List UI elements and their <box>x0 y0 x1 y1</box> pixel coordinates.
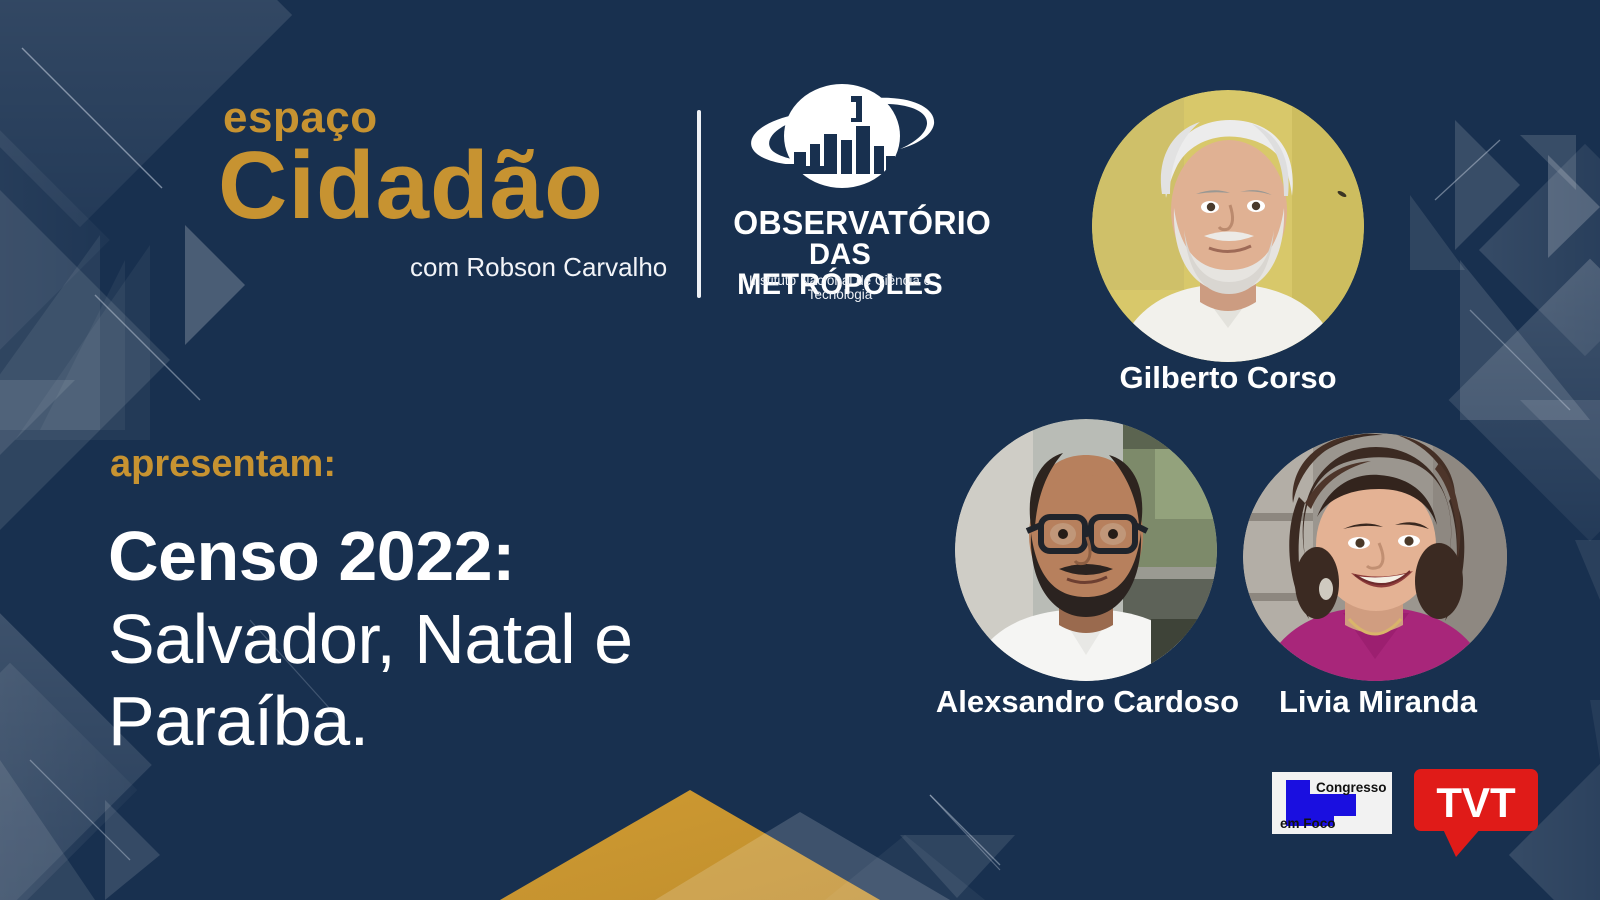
speaker-name-gilberto-corso: Gilberto Corso <box>1058 362 1398 393</box>
cf-line2: em Foco <box>1280 816 1336 831</box>
globe-city-skyline-icon <box>744 78 940 208</box>
portrait-livia-miranda <box>1243 433 1508 681</box>
portrait-gilberto-corso <box>1092 90 1364 362</box>
congresso-em-foco-logo[interactable]: Congresso em Foco <box>1272 772 1392 834</box>
cf-line1: Congresso <box>1316 780 1387 795</box>
observatorio-line1: OBSERVATÓRIO <box>733 206 946 239</box>
tvt-label: TVT <box>1436 779 1516 826</box>
brand-line-cidadao: Cidadão <box>218 136 604 237</box>
observatorio-line3: Instituto Nacional de Ciência e Tecnolog… <box>730 274 950 301</box>
logo-divider <box>697 110 701 298</box>
brand-host-credit: com Robson Carvalho <box>410 254 667 280</box>
headline-line-1: Censo 2022: <box>108 515 888 598</box>
program-brand-lockup: espaço Cidadão com Robson Carvalho <box>118 96 718 311</box>
portrait-alexsandro-cardoso <box>955 419 1217 681</box>
apresentam-kicker: apresentam: <box>110 445 336 483</box>
observatorio-logo: OBSERVATÓRIO DAS METRÓPOLES Instituto Na… <box>730 78 950 303</box>
headline-block: Censo 2022: Salvador, Natal e Paraíba. <box>108 515 888 763</box>
speaker-name-livia-miranda: Livia Miranda <box>1258 686 1498 717</box>
promo-slide: espaço Cidadão com Robson Carvalho <box>0 0 1600 900</box>
headline-line-2: Salvador, Natal e <box>108 598 888 681</box>
speaker-name-alexsandro-cardoso: Alexsandro Cardoso <box>900 686 1275 717</box>
headline-line-3: Paraíba. <box>108 680 888 763</box>
tvt-logo[interactable]: TVT <box>1414 767 1538 857</box>
